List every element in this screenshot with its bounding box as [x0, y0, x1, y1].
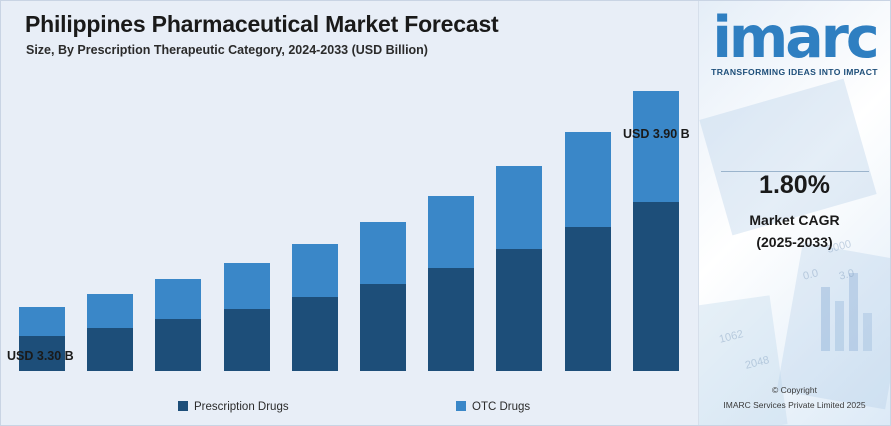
logo-wordmark: imarc [699, 7, 890, 69]
copyright-text: © Copyright [699, 385, 890, 395]
legend-swatch-prescription-drugs [178, 401, 188, 411]
cagr-period: (2025-2033) [699, 234, 890, 250]
bar-segment-prescription-drugs [224, 309, 270, 371]
bar-segment-otc-drugs [633, 91, 679, 202]
bar-segment-otc-drugs [565, 132, 611, 228]
bar-segment-prescription-drugs [87, 328, 133, 371]
bar-segment-otc-drugs [19, 307, 65, 336]
cagr-value: 1.80% [699, 171, 890, 200]
decorative-bar [863, 313, 872, 351]
page-title: Philippines Pharmaceutical Market Foreca… [25, 11, 499, 38]
legend-label-prescription-drugs: Prescription Drugs [194, 401, 289, 413]
legend-swatch-otc-drugs [456, 401, 466, 411]
bar-segment-otc-drugs [428, 196, 474, 268]
legend-item-prescription-drugs: Prescription Drugs [178, 401, 289, 413]
bar-segment-otc-drugs [360, 222, 406, 284]
chart-subtitle: Size, By Prescription Therapeutic Catego… [26, 43, 428, 57]
callout-end-value: USD 3.90 B [623, 127, 690, 141]
bar-segment-prescription-drugs [428, 268, 474, 371]
bar-segment-otc-drugs [224, 263, 270, 309]
bar-group [155, 279, 201, 371]
plot-area: 2024202520262027202820292030203120322033… [1, 63, 701, 368]
logo-tagline: TRANSFORMING IDEAS INTO IMPACT [699, 67, 890, 77]
bar-group [87, 294, 133, 371]
cagr-label: Market CAGR [699, 212, 890, 228]
bar-segment-prescription-drugs [155, 319, 201, 371]
bar-segment-prescription-drugs [496, 249, 542, 371]
brand-panel: 5000 0.0 2048 3.0 1062 imarc TRANSFORMIN… [698, 1, 890, 425]
company-text: IMARC Services Private Limited 2025 [699, 400, 890, 410]
bar-group [496, 166, 542, 371]
bar-group [292, 244, 338, 371]
legend-item-otc-drugs: OTC Drugs [456, 401, 530, 413]
bar-segment-otc-drugs [292, 244, 338, 297]
bar-segment-otc-drugs [87, 294, 133, 328]
decorative-bar [821, 287, 830, 351]
chart-infographic: Philippines Pharmaceutical Market Foreca… [0, 0, 891, 426]
chart-legend: Prescription Drugs OTC Drugs [1, 397, 701, 421]
callout-start-value: USD 3.30 B [7, 349, 74, 363]
decorative-bar [835, 301, 844, 351]
decorative-bar [849, 273, 858, 351]
bar-segment-prescription-drugs [565, 227, 611, 371]
bar-segment-prescription-drugs [292, 297, 338, 371]
imarc-logo: imarc TRANSFORMING IDEAS INTO IMPACT [699, 7, 890, 77]
bar-segment-otc-drugs [155, 279, 201, 319]
chart-panel: Philippines Pharmaceutical Market Foreca… [1, 1, 701, 425]
bar-segment-prescription-drugs [360, 284, 406, 371]
legend-label-otc-drugs: OTC Drugs [472, 401, 530, 413]
bar-segment-otc-drugs [496, 166, 542, 249]
bar-group [428, 196, 474, 371]
bar-group [360, 222, 406, 371]
bar-segment-prescription-drugs [633, 202, 679, 371]
bar-group [565, 132, 611, 371]
bar-group [224, 263, 270, 371]
